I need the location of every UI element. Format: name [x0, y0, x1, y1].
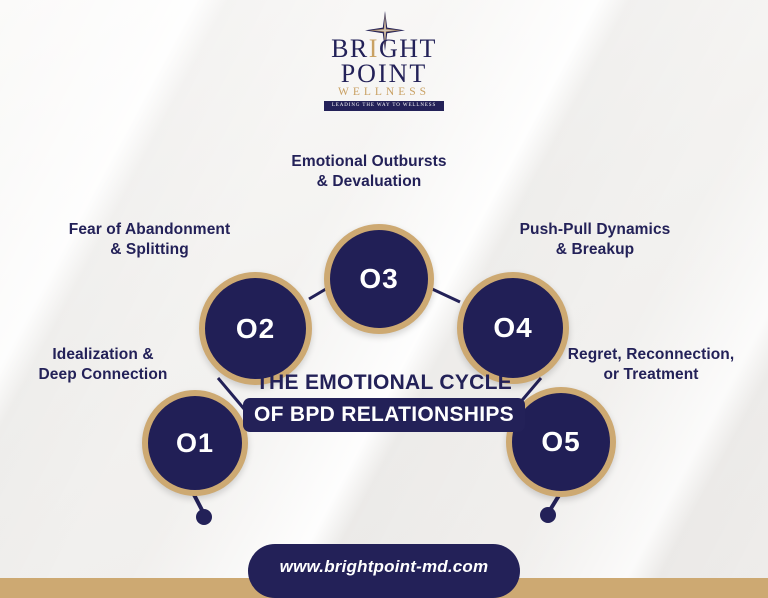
- cycle-label-05-line2: or Treatment: [535, 365, 767, 385]
- cycle-label-02-line1: Fear of Abandonment: [38, 220, 261, 240]
- cycle-label-05-line1: Regret, Reconnection,: [535, 345, 767, 365]
- cycle-node-03[interactable]: O3: [324, 224, 434, 334]
- cycle-label-03: Emotional Outbursts & Devaluation: [258, 152, 480, 193]
- cycle-label-02: Fear of Abandonment & Splitting: [38, 220, 261, 261]
- tail-dot-05: [540, 507, 556, 523]
- cycle-node-02[interactable]: O2: [199, 272, 312, 385]
- cycle-label-03-line2: & Devaluation: [258, 172, 480, 192]
- cycle-label-04-line2: & Breakup: [495, 240, 695, 260]
- page-title-line1: THE EMOTIONAL CYCLE: [229, 372, 539, 394]
- cycle-label-03-line1: Emotional Outbursts: [258, 152, 480, 172]
- page-title: THE EMOTIONAL CYCLE OF BPD RELATIONSHIPS: [229, 372, 539, 432]
- cycle-label-01: Idealization & Deep Connection: [8, 345, 198, 386]
- footer-url-pill[interactable]: www.brightpoint-md.com: [248, 544, 520, 598]
- footer-url-text: www.brightpoint-md.com: [280, 557, 489, 577]
- cycle-label-02-line2: & Splitting: [38, 240, 261, 260]
- cycle-label-01-line1: Idealization &: [8, 345, 198, 365]
- infographic-canvas: BRIGHT POINT WELLNESS LEADING THE WAY TO…: [0, 0, 768, 598]
- tail-dot-01: [196, 509, 212, 525]
- cycle-label-01-line2: Deep Connection: [8, 365, 198, 385]
- cycle-label-04-line1: Push-Pull Dynamics: [495, 220, 695, 240]
- page-title-line2: OF BPD RELATIONSHIPS: [243, 398, 525, 432]
- connector-03-04: [430, 288, 460, 302]
- cycle-label-05: Regret, Reconnection, or Treatment: [535, 345, 767, 386]
- cycle-label-04: Push-Pull Dynamics & Breakup: [495, 220, 695, 261]
